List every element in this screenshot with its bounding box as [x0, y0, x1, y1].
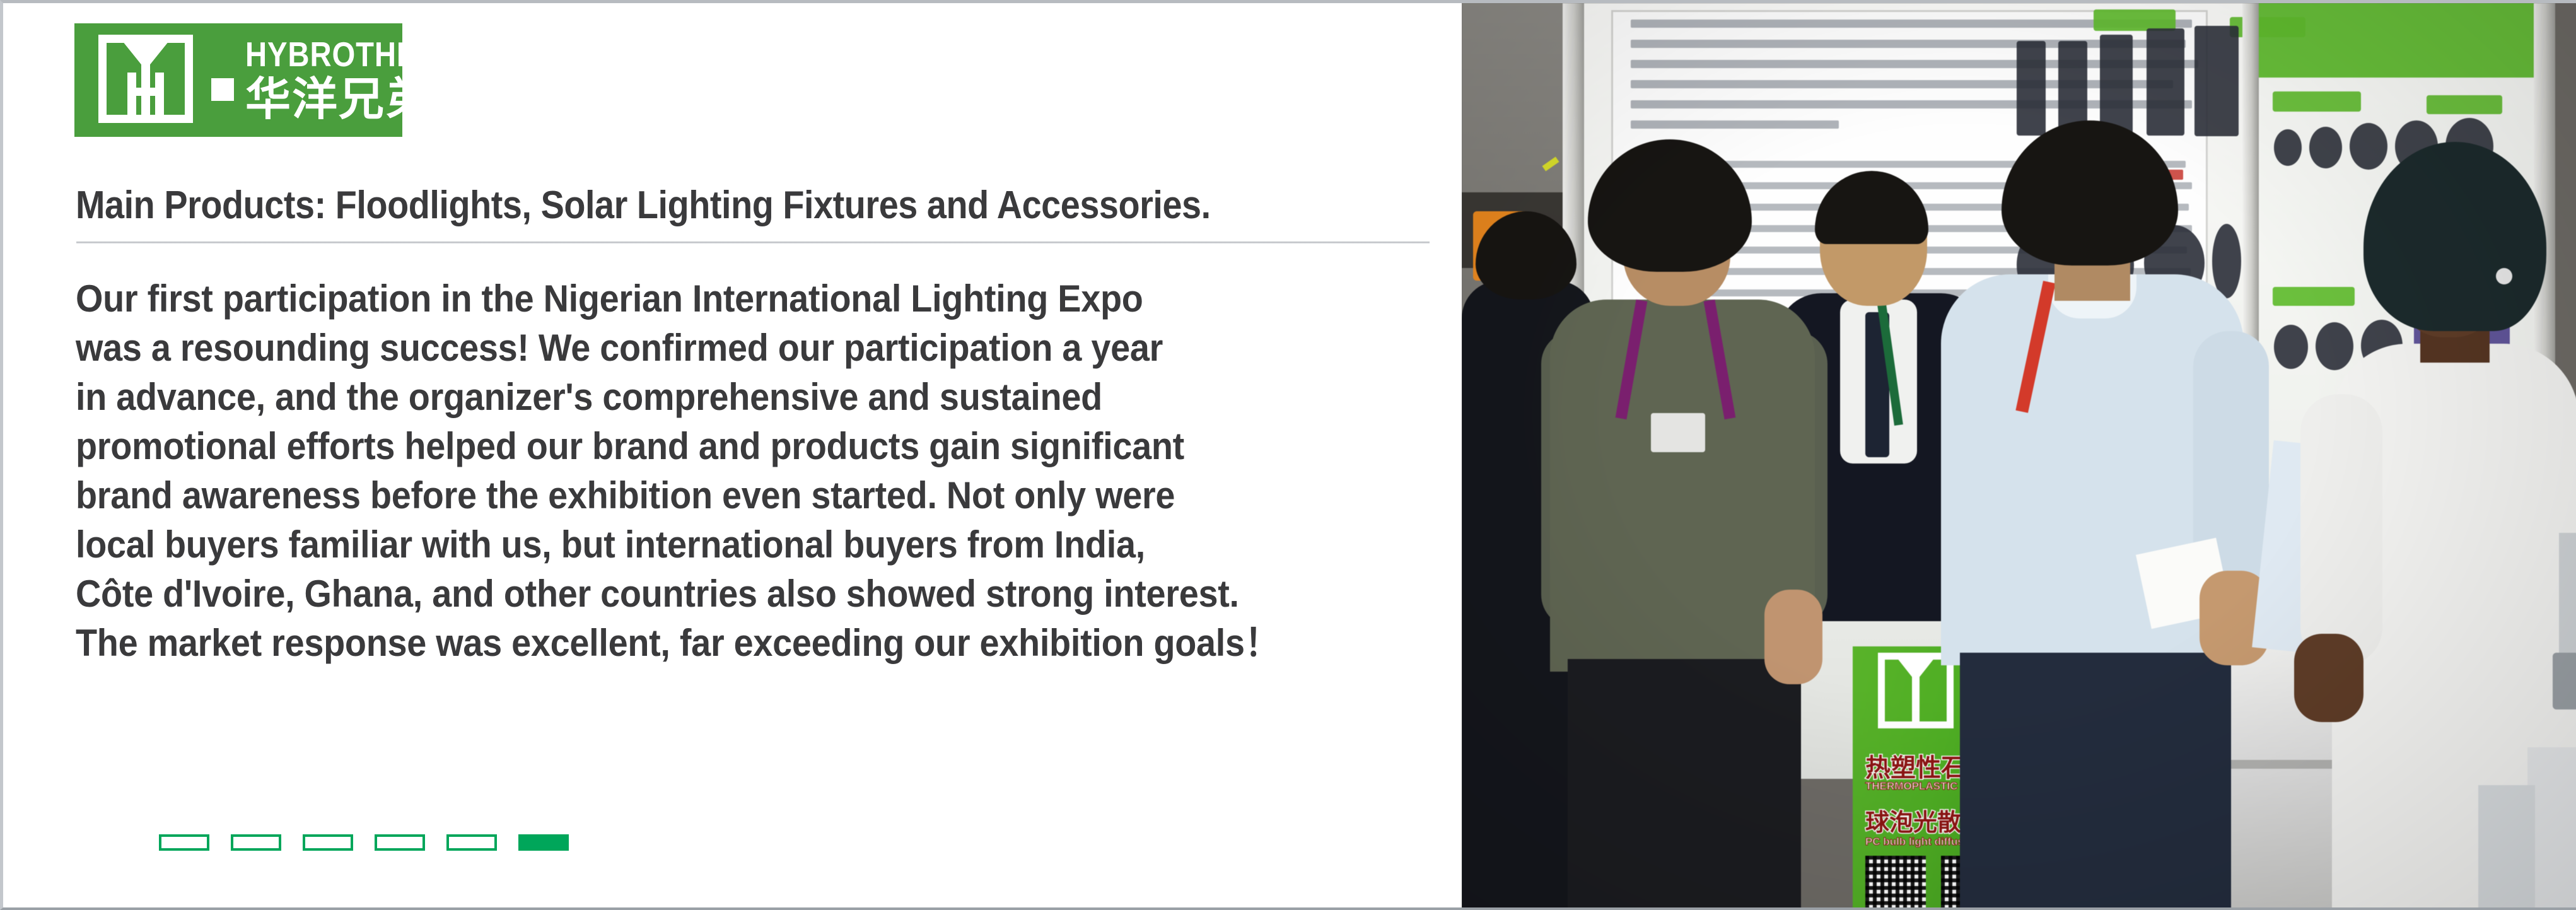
- photo-vignette: [1462, 3, 2576, 910]
- body-line: local buyers familiar with us, but inter…: [76, 520, 1319, 569]
- carousel-pagination[interactable]: [159, 834, 569, 851]
- exhibition-booth-photo: 热塑性石墨 THERMOPLASTIC GRAPHITE 球泡光散，挤出 PC …: [1462, 3, 2576, 910]
- body-line: Côte d'Ivoire, Ghana, and other countrie…: [76, 569, 1319, 619]
- body-line: Our first participation in the Nigerian …: [76, 274, 1319, 324]
- body-line: was a resounding success! We confirmed o…: [76, 324, 1319, 373]
- pagination-dot-4[interactable]: [375, 834, 425, 851]
- exhibition-news-card: HYBROTHER 华洋兄弟 Main Products: Floodlight…: [0, 0, 2576, 910]
- pagination-dot-2[interactable]: [231, 834, 281, 851]
- article-body: Our first participation in the Nigerian …: [76, 274, 1319, 668]
- pagination-dot-3[interactable]: [303, 834, 353, 851]
- body-line: brand awareness before the exhibition ev…: [76, 471, 1319, 520]
- main-products-heading: Main Products: Floodlights, Solar Lighti…: [76, 185, 1268, 226]
- body-line: The market response was excellent, far e…: [76, 619, 1319, 668]
- logo-square-dot-icon: [211, 78, 234, 101]
- body-line: in advance, and the organizer's comprehe…: [76, 373, 1319, 422]
- logo-chinese-name: 华洋兄弟: [245, 76, 402, 124]
- heading-divider: [76, 242, 1430, 243]
- pagination-dot-5[interactable]: [446, 834, 497, 851]
- body-line: promotional efforts helped our brand and…: [76, 422, 1319, 471]
- hybrother-logo: HYBROTHER 华洋兄弟: [74, 23, 402, 137]
- pagination-dot-1[interactable]: [159, 834, 209, 851]
- brand-mark-icon: [95, 35, 205, 126]
- logo-wordmark: HYBROTHER 华洋兄弟: [245, 37, 402, 124]
- content-panel: HYBROTHER 华洋兄弟 Main Products: Floodlight…: [3, 3, 1462, 910]
- logo-english-name: HYBROTHER: [245, 37, 402, 72]
- pagination-dot-6[interactable]: [518, 834, 569, 851]
